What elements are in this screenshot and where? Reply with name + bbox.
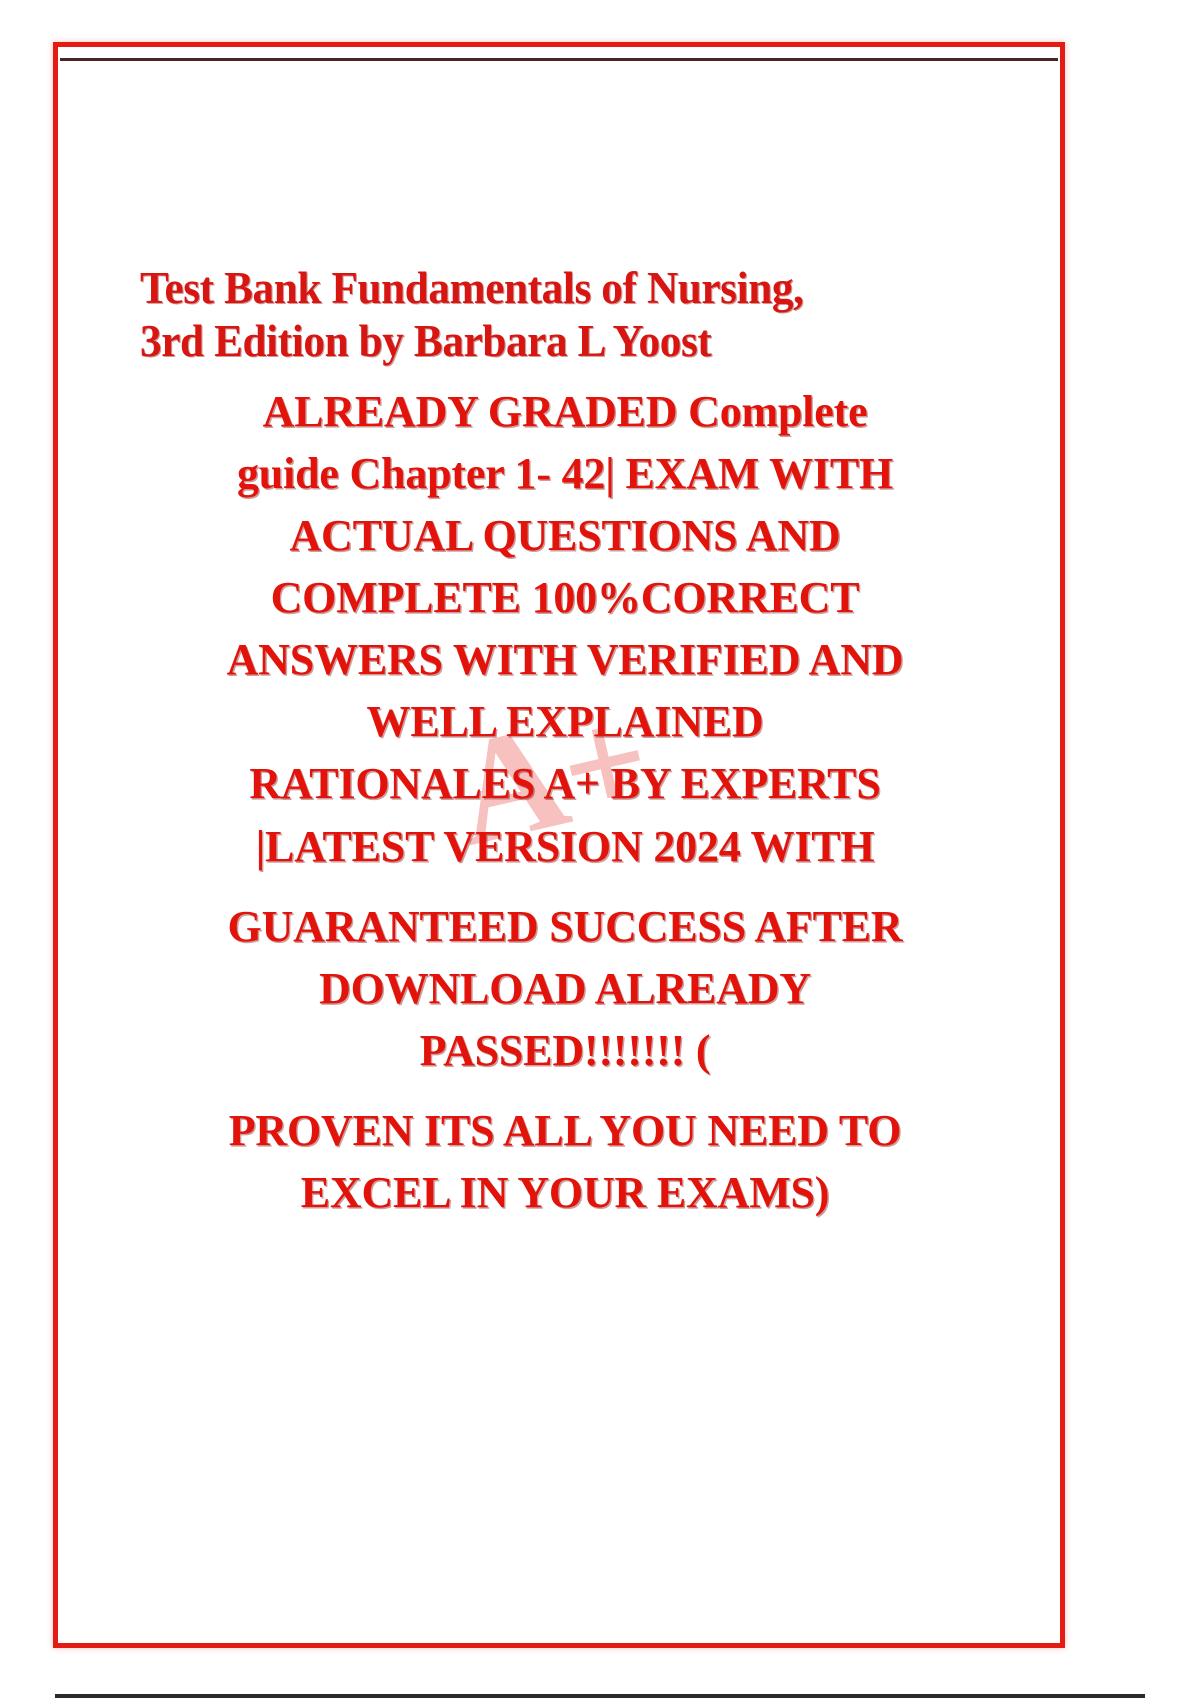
description-line: ALREADY GRADED Complete — [140, 381, 990, 443]
description-block: ALREADY GRADED Complete guide Chapter 1-… — [140, 381, 990, 1223]
page-content: Test Bank Fundamentals of Nursing, 3rd E… — [140, 262, 990, 1224]
description-line: ANSWERS WITH VERIFIED AND — [140, 629, 990, 691]
frame-inner-rule — [60, 58, 1058, 61]
description-line: GUARANTEED SUCCESS AFTER — [140, 896, 990, 958]
page-separator-rule — [55, 1694, 1145, 1698]
document-page: A+ Test Bank Fundamentals of Nursing, 3r… — [0, 0, 1200, 1700]
description-line: ACTUAL QUESTIONS AND — [140, 505, 990, 567]
description-line: DOWNLOAD ALREADY — [140, 958, 990, 1020]
description-line: guide Chapter 1- 42| EXAM WITH — [140, 443, 990, 505]
title-line-1: Test Bank Fundamentals of Nursing, — [140, 263, 804, 313]
description-line: |LATEST VERSION 2024 WITH — [140, 816, 990, 878]
description-line: PASSED!!!!!!! ( — [140, 1020, 990, 1082]
page-title: Test Bank Fundamentals of Nursing, 3rd E… — [140, 262, 956, 367]
title-line-2: 3rd Edition by Barbara L Yoost — [140, 316, 711, 366]
description-line: RATIONALES A+ BY EXPERTS — [140, 753, 990, 815]
description-line: EXCEL IN YOUR EXAMS) — [140, 1162, 990, 1224]
description-line: WELL EXPLAINED — [140, 691, 990, 753]
description-line: COMPLETE 100%CORRECT — [140, 567, 990, 629]
description-line: PROVEN ITS ALL YOU NEED TO — [140, 1100, 990, 1162]
